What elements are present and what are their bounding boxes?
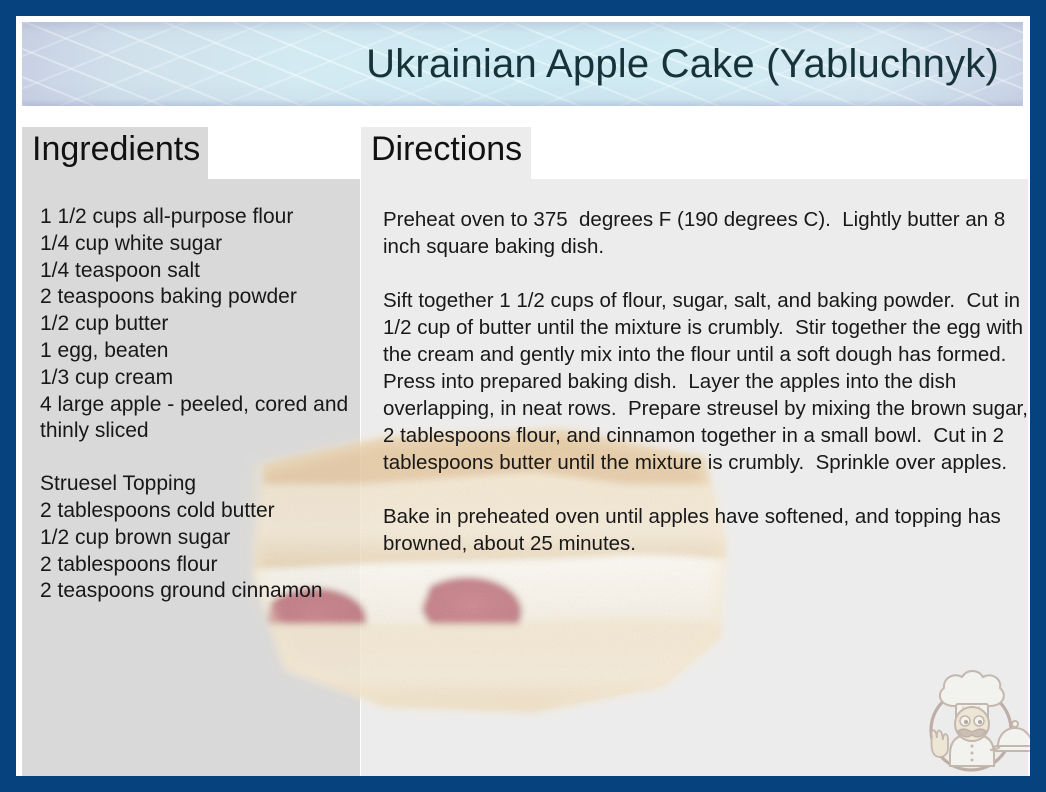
- directions-paragraph: Preheat oven to 375 degrees F (190 degre…: [383, 206, 1031, 260]
- list-item: 2 tablespoons cold butter: [40, 498, 370, 525]
- directions-paragraph: Bake in preheated oven until apples have…: [383, 503, 1031, 557]
- chef-mascot-logo: [910, 658, 1032, 780]
- list-item: thinly sliced: [40, 418, 370, 445]
- list-item: 1/4 teaspoon salt: [40, 258, 370, 285]
- recipe-card: Ukrainian Apple Cake (Yabluchnyk) Ingred…: [0, 0, 1046, 792]
- list-gap: [40, 445, 370, 471]
- list-item: 2 teaspoons ground cinnamon: [40, 578, 370, 605]
- directions-header-box: Directions: [361, 127, 531, 179]
- directions-paragraph: Sift together 1 1/2 cups of flour, sugar…: [383, 287, 1031, 476]
- list-item: 1/2 cup butter: [40, 311, 370, 338]
- list-item: 1 1/2 cups all-purpose flour: [40, 204, 370, 231]
- list-item: 1/3 cup cream: [40, 365, 370, 392]
- list-item: 1/2 cup brown sugar: [40, 525, 370, 552]
- directions-heading: Directions: [371, 130, 522, 169]
- list-item: 1/4 cup white sugar: [40, 231, 370, 258]
- title-banner: Ukrainian Apple Cake (Yabluchnyk): [22, 22, 1023, 106]
- ingredients-heading: Ingredients: [32, 130, 200, 169]
- directions-text: Preheat oven to 375 degrees F (190 degre…: [383, 206, 1031, 557]
- ingredients-header-box: Ingredients: [22, 127, 208, 179]
- list-item: 2 teaspoons baking powder: [40, 284, 370, 311]
- struesel-topping-subheading: Struesel Topping: [40, 471, 370, 498]
- list-item: 2 tablespoons flour: [40, 552, 370, 579]
- page-title: Ukrainian Apple Cake (Yabluchnyk): [366, 42, 1023, 87]
- list-item: 1 egg, beaten: [40, 338, 370, 365]
- ingredients-list: 1 1/2 cups all-purpose flour 1/4 cup whi…: [40, 204, 370, 605]
- list-item: 4 large apple - peeled, cored and: [40, 392, 370, 419]
